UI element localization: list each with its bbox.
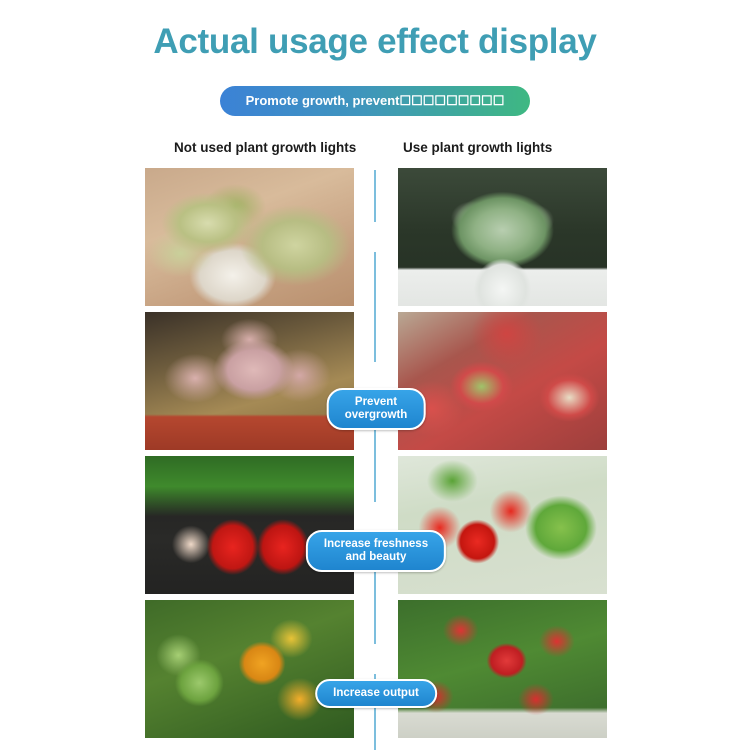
photo-cell-used: [398, 312, 607, 450]
photo-cell-not-used: [145, 312, 354, 450]
promo-badge-container: Promote growth, prevent☐☐☐☐☐☐☐☐☐: [0, 86, 750, 116]
photo-pale-pink-succulents: [145, 312, 354, 450]
column-heading-not-used: Not used plant growth lights: [174, 140, 356, 155]
photo-cell-used: [398, 168, 607, 306]
promo-page: Actual usage effect display Promote grow…: [0, 0, 750, 750]
photo-abundant-strawberries: [398, 456, 607, 594]
column-headings: Not used plant growth lights Use plant g…: [145, 140, 610, 160]
comparison-grid: Prevent overgrowth Increase freshness an…: [145, 168, 607, 744]
photo-few-strawberries: [145, 456, 354, 594]
page-title: Actual usage effect display: [0, 22, 750, 62]
column-heading-used: Use plant growth lights: [403, 140, 552, 155]
comparison-row: [145, 168, 607, 306]
photo-cell-used: [398, 456, 607, 594]
row-label-increase-freshness: Increase freshness and beauty: [306, 530, 446, 572]
photo-vivid-red-succulents: [398, 312, 607, 450]
row-label-prevent-overgrowth: Prevent overgrowth: [327, 388, 426, 430]
photo-cell-not-used: [145, 168, 354, 306]
photo-unripe-tomatoes: [145, 600, 354, 738]
photo-ripe-tomatoes: [398, 600, 607, 738]
promo-badge: Promote growth, prevent☐☐☐☐☐☐☐☐☐: [220, 86, 531, 116]
photo-cell-not-used: [145, 600, 354, 738]
photo-cell-used: [398, 600, 607, 738]
photo-cell-not-used: [145, 456, 354, 594]
photo-compact-green-succulent: [398, 168, 607, 306]
photo-etiolated-succulents: [145, 168, 354, 306]
comparison-row: [145, 456, 607, 594]
row-label-increase-output: Increase output: [315, 679, 437, 708]
comparison-row: [145, 600, 607, 738]
